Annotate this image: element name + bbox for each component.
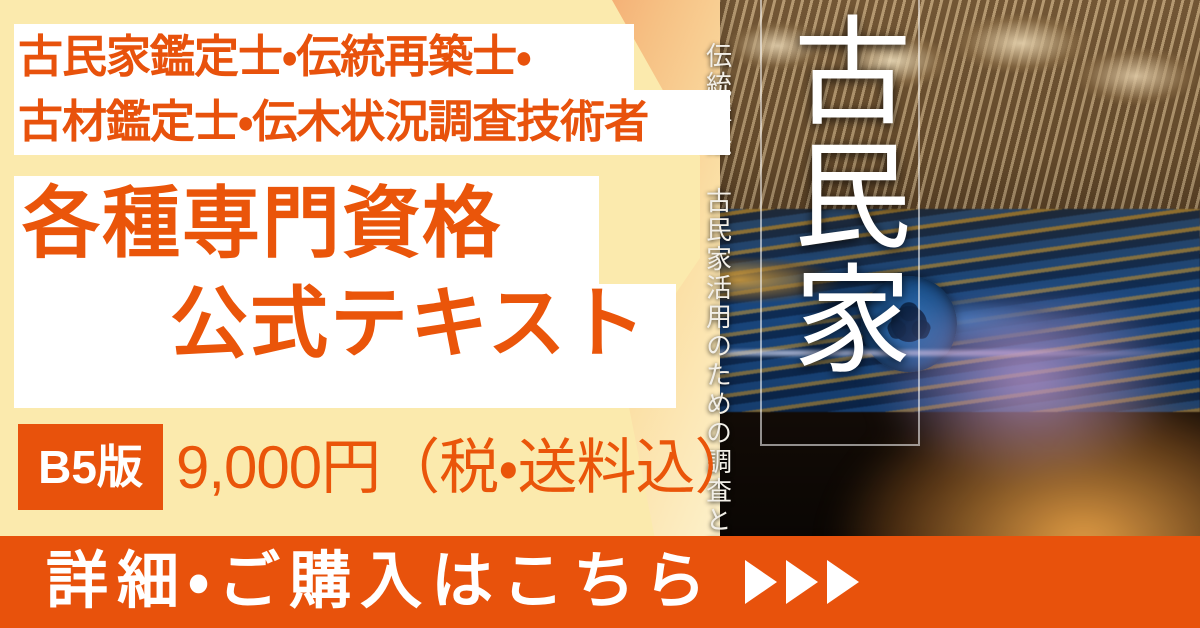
triangle-right-icon: [786, 560, 818, 604]
qualification-line-2: 古材鑑定士・伝木状況調査技術者: [18, 90, 734, 155]
cta-label: 詳細・ご購入はこちら: [46, 551, 715, 613]
headline-line-2: 公式テキスト: [170, 284, 648, 362]
promo-banner: 古民家 伝統構法 古民家活用のための調査と再生の 古民家鑑定士・伝統再築士・ 古…: [0, 0, 1200, 628]
cover-bokeh-glow: [680, 304, 1200, 564]
format-badge-b5: B5版: [18, 424, 163, 510]
price-text: 9,000円（税・送料込）: [176, 430, 754, 505]
qualifications-text-block: 古民家鑑定士・伝統再築士・ 古材鑑定士・伝木状況調査技術者: [18, 24, 734, 155]
triangle-right-icon: [827, 560, 859, 604]
cover-title-text: 古民家: [772, 10, 908, 382]
cta-bar[interactable]: 詳細・ご購入はこちら: [0, 536, 1200, 628]
cta-inner[interactable]: 詳細・ご購入はこちら: [46, 551, 859, 613]
triangle-right-icon: [745, 560, 777, 604]
qualification-line-1: 古民家鑑定士・伝統再築士・: [18, 25, 734, 90]
cta-arrow-group: [745, 560, 859, 604]
headline-line-1: 各種専門資格: [22, 184, 502, 262]
